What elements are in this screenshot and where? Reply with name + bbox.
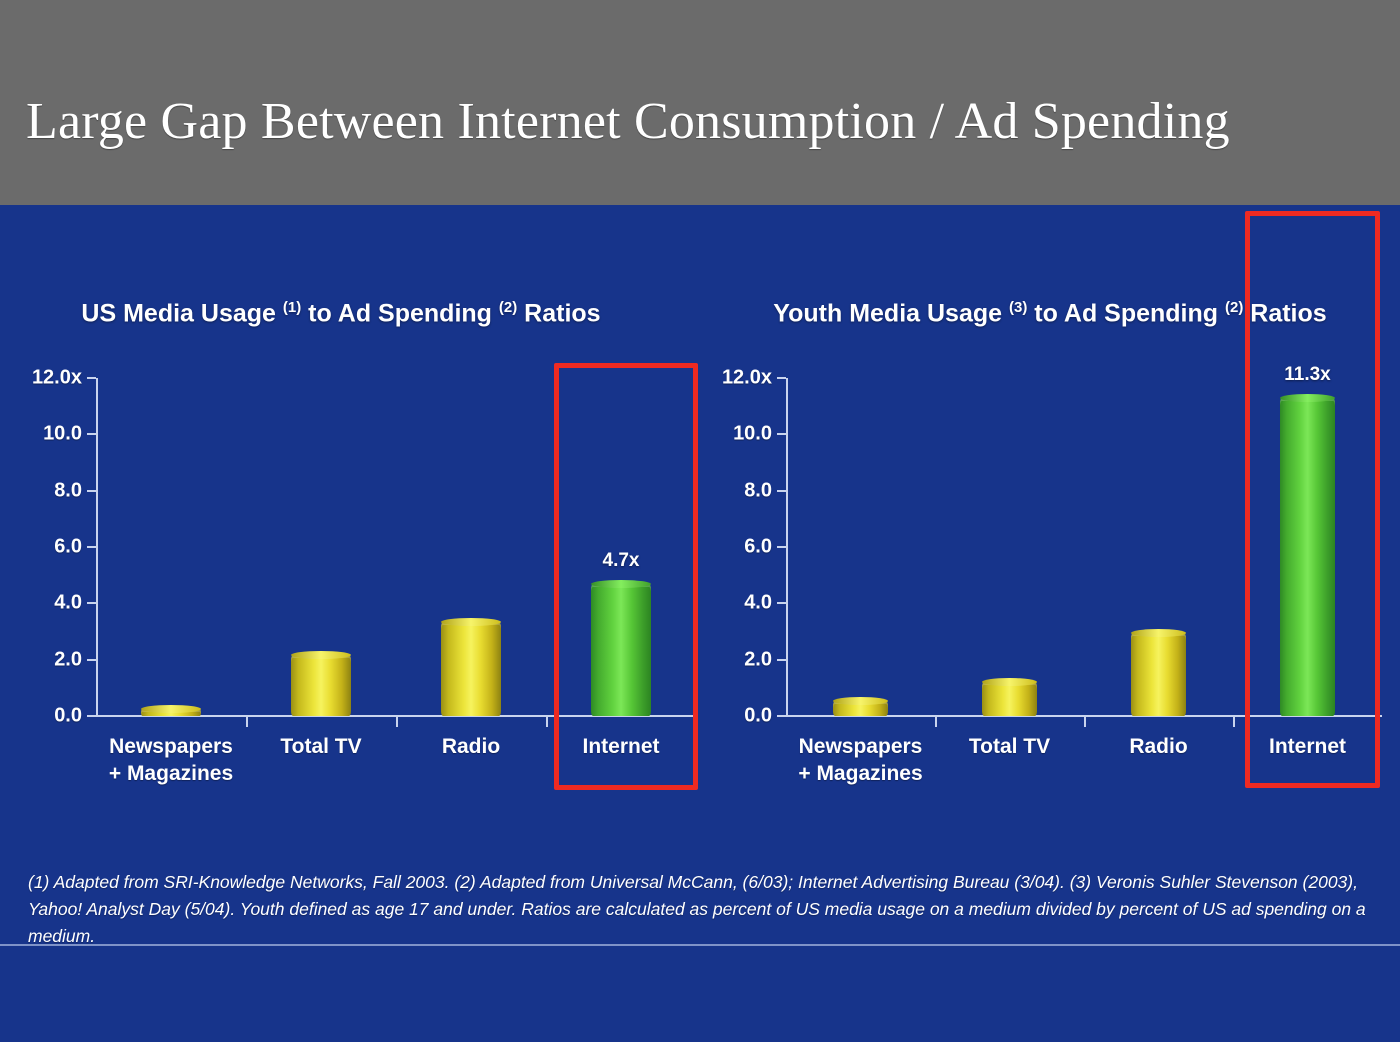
bar-internet [591,584,651,716]
slide-footer: MorganStanley 43 Yourseeker [0,946,1400,1042]
y-axis-tick [87,659,96,661]
y-axis-tick-label: 6.0 [54,536,82,559]
chart-title-text-a: US Media Usage [81,299,282,327]
y-axis-tick-label: 12.0x [32,367,82,390]
x-axis-category-label: Total TV [969,733,1050,760]
y-axis-tick [87,715,96,717]
chart-title-superscript-2: (2) [1225,299,1243,316]
y-axis-tick-label: 4.0 [54,592,82,615]
y-axis-tick [777,659,786,661]
chart-panel-youth-media: Youth Media Usage (3) to Ad Spending (2)… [700,205,1400,945]
bar-value-label: 4.7x [603,550,640,572]
highlight-box-internet [554,363,698,790]
bar-cylinder-top [1280,394,1335,402]
x-axis-category-label: Total TV [280,733,361,760]
plot-area-youth-media: 12.0x10.08.06.04.02.00.0Newspapers+ Maga… [786,378,1382,716]
bar-total-tv [291,655,351,716]
y-axis-tick [87,546,96,548]
y-axis-tick-label: 2.0 [744,648,772,671]
x-axis-tick [396,716,398,727]
chart-panel-us-media: US Media Usage (1) to Ad Spending (2) Ra… [0,205,710,945]
x-axis-category-label: Radio [1129,733,1187,760]
slide-body: US Media Usage (1) to Ad Spending (2) Ra… [0,205,1400,945]
chart-title-us-media: US Media Usage (1) to Ad Spending (2) Ra… [0,290,696,331]
bar-value-label: 11.3x [1284,364,1331,386]
y-axis-tick [777,715,786,717]
y-axis-tick [87,433,96,435]
bar-cylinder-top [141,705,201,713]
bar-radio [441,622,501,716]
chart-title-text-b: to Ad Spending [1027,299,1225,327]
bar-cylinder-top [1131,629,1186,637]
footnote-text: (1) Adapted from SRI-Knowledge Networks,… [28,869,1373,950]
y-axis-tick-label: 12.0x [722,367,772,390]
y-axis-tick [777,490,786,492]
y-axis-line [96,378,98,716]
y-axis-tick [777,546,786,548]
chart-title-superscript-1: (1) [283,299,301,316]
bar-newspapers-magazines [833,701,888,716]
bar-radio [1131,633,1186,716]
plot-area-us-media: 12.0x10.08.06.04.02.00.0Newspapers+ Maga… [96,378,696,716]
y-axis-tick-label: 8.0 [744,479,772,502]
bar-cylinder-top [833,697,888,705]
y-axis-tick-label: 4.0 [744,592,772,615]
y-axis-line [786,378,788,716]
y-axis-tick [87,602,96,604]
y-axis-tick-label: 10.0 [43,423,82,446]
bar-cylinder-top [982,678,1037,686]
x-axis-tick [1233,716,1235,727]
bar-cylinder-top [441,618,501,626]
chart-title-text-c: Ratios [517,299,600,327]
y-axis-tick [87,490,96,492]
y-axis-tick [87,377,96,379]
y-axis-tick [777,602,786,604]
bar-internet [1280,398,1335,716]
y-axis-tick [777,377,786,379]
x-axis-category-label: Internet [582,733,659,760]
y-axis-tick-label: 0.0 [54,705,82,728]
y-axis-tick-label: 2.0 [54,648,82,671]
x-axis-category-label: Newspapers+ Magazines [798,733,922,787]
slide-header: Large Gap Between Internet Consumption /… [0,0,1400,208]
y-axis-tick [777,433,786,435]
x-axis-tick [935,716,937,727]
chart-title-text-c: Ratios [1243,299,1326,327]
x-axis-tick [1084,716,1086,727]
x-axis-tick [546,716,548,727]
slide: Large Gap Between Internet Consumption /… [0,0,1400,1042]
page-title: Large Gap Between Internet Consumption /… [26,92,1230,151]
chart-title-text-a: Youth Media Usage [773,299,1009,327]
bar-newspapers-magazines [141,709,201,716]
chart-title-text-b: to Ad Spending [301,299,499,327]
y-axis-tick-label: 0.0 [744,705,772,728]
y-axis-tick-label: 6.0 [744,536,772,559]
chart-title-youth-media: Youth Media Usage (3) to Ad Spending (2)… [700,290,1400,331]
chart-title-superscript-3: (3) [1009,299,1027,316]
y-axis-tick-label: 10.0 [733,423,772,446]
x-axis-tick [246,716,248,727]
x-axis-category-label: Newspapers+ Magazines [109,733,233,787]
chart-title-superscript-2: (2) [499,299,517,316]
bar-total-tv [982,682,1037,716]
x-axis-category-label: Radio [442,733,500,760]
x-axis-category-label: Internet [1269,733,1346,760]
y-axis-tick-label: 8.0 [54,479,82,502]
bar-cylinder-top [591,580,651,588]
bar-cylinder-top [291,651,351,659]
